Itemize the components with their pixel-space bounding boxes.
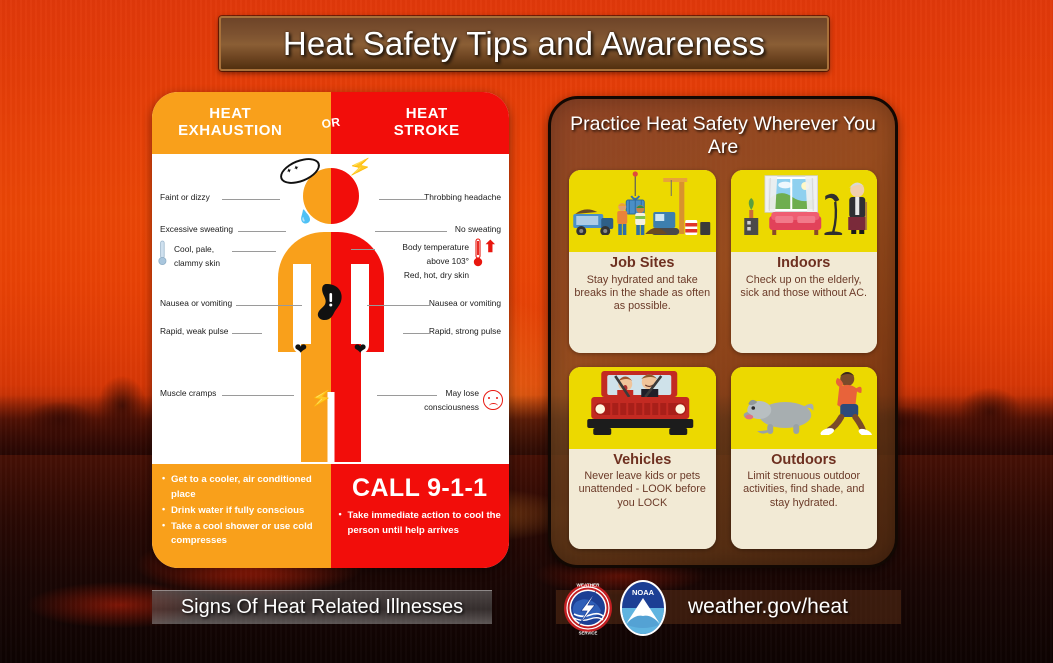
heat-stroke-header: HEAT STROKE <box>331 92 510 154</box>
symptom-nausea-right: Nausea or vomiting <box>429 298 501 310</box>
card-text-area: Job Sites Stay hydrated and take breaks … <box>569 252 716 352</box>
symptoms-diagram: ⚡ 💧 ❤ ❤ ⚡ <box>152 154 509 464</box>
svg-text:NOAA: NOAA <box>632 588 655 597</box>
symptom-may-lose-consciousness-1: May lose <box>445 388 479 400</box>
symptom-may-lose-consciousness-2: consciousness <box>424 402 479 414</box>
symptom-cool-pale-clammy-skin-2: clammy skin <box>174 258 220 270</box>
leader-line <box>222 199 280 200</box>
cold-thermometer-icon <box>158 240 167 266</box>
leader-line <box>379 199 427 200</box>
card-body: Stay hydrated and take breaks in the sha… <box>574 274 711 314</box>
card-text-area: Outdoors Limit strenuous outdoor activit… <box>731 449 878 549</box>
heat-stroke-title-line1: HEAT <box>406 106 448 123</box>
stomach-nausea-icon <box>310 282 348 324</box>
leader-line <box>236 305 302 306</box>
safety-card-outdoors[interactable]: Outdoors Limit strenuous outdoor activit… <box>731 367 878 549</box>
leader-line <box>238 231 286 232</box>
weak-pulse-heart-icon: ❤ <box>295 340 308 358</box>
symptom-no-sweating: No sweating <box>455 224 501 236</box>
leader-line <box>367 305 429 306</box>
symptom-excessive-sweating: Excessive sweating <box>160 224 233 236</box>
list-item: Take immediate action to cool the person… <box>339 509 502 539</box>
human-body-figure: ⚡ 💧 ❤ ❤ ⚡ <box>271 154 391 464</box>
heat-exhaustion-title-line2: EXHAUSTION <box>178 123 282 140</box>
symptom-rapid-strong-pulse: Rapid, strong pulse <box>429 326 501 338</box>
symptom-red-hot-dry-skin: Red, hot, dry skin <box>404 270 469 282</box>
card-text-area: Indoors Check up on the elderly, sick an… <box>731 252 878 352</box>
runner-and-dog-illustration <box>731 367 878 449</box>
or-divider-label: OR <box>320 115 341 131</box>
practice-panel-title: Practice Heat Safety Wherever You Are <box>569 113 877 158</box>
leader-line <box>403 333 429 334</box>
signs-of-heat-related-illnesses-banner: Signs Of Heat Related Illnesses <box>152 590 492 624</box>
leader-line <box>351 249 375 250</box>
list-item: Drink water if fully conscious <box>162 504 323 519</box>
symptom-muscle-cramps: Muscle cramps <box>160 388 216 400</box>
leader-line <box>232 333 262 334</box>
symptom-throbbing-headache: Throbbing headache <box>424 192 501 204</box>
symptom-nausea-left: Nausea or vomiting <box>160 298 232 310</box>
heat-exhaustion-header: HEAT EXHAUSTION <box>152 92 331 154</box>
hot-thermometer-icon <box>473 238 483 268</box>
signs-header: HEAT EXHAUSTION HEAT STROKE OR <box>152 92 509 154</box>
safety-card-job-sites[interactable]: Job Sites Stay hydrated and take breaks … <box>569 170 716 352</box>
page-title-banner: Heat Safety Tips and Awareness <box>219 16 829 71</box>
heat-exhaustion-actions: Get to a cooler, air conditioned place D… <box>152 464 331 568</box>
symptom-body-temp-1: Body temperature <box>402 242 469 254</box>
card-body: Check up on the elderly, sick and those … <box>736 274 873 301</box>
safety-card-vehicles[interactable]: Vehicles Never leave kids or pets unatte… <box>569 367 716 549</box>
svg-text:WEATHER: WEATHER <box>577 583 601 588</box>
construction-site-illustration <box>569 170 716 252</box>
list-item: Get to a cooler, air conditioned place <box>162 473 323 503</box>
living-room-elderly-illustration <box>731 170 878 252</box>
call-911-text: CALL 9-1-1 <box>339 474 502 503</box>
unconscious-sad-face-icon <box>483 390 503 410</box>
safety-cards-grid: Job Sites Stay hydrated and take breaks … <box>569 170 877 549</box>
card-title: Job Sites <box>610 255 674 272</box>
card-text-area: Vehicles Never leave kids or pets unatte… <box>569 449 716 549</box>
heat-illness-signs-infographic: HEAT EXHAUSTION HEAT STROKE OR ⚡ 💧 <box>152 92 509 568</box>
muscle-cramp-icon: ⚡ <box>309 389 329 409</box>
signs-label-text: Signs Of Heat Related Illnesses <box>181 596 463 619</box>
temperature-rising-arrow-icon: ⬆ <box>484 240 497 256</box>
leader-line <box>232 251 276 252</box>
noaa-logo: NOAA <box>618 578 668 638</box>
page-title: Heat Safety Tips and Awareness <box>283 25 765 63</box>
red-car-children-illustration <box>569 367 716 449</box>
leader-line <box>222 395 294 396</box>
list-item: Take a cool shower or use cold compresse… <box>162 520 323 550</box>
heat-stroke-actions: CALL 9-1-1 Take immediate action to cool… <box>331 464 510 568</box>
heat-exhaustion-title-line1: HEAT <box>209 106 251 123</box>
safety-card-indoors[interactable]: Indoors Check up on the elderly, sick an… <box>731 170 878 352</box>
headache-lightning-icon: ⚡ <box>346 156 371 179</box>
card-body: Limit strenuous outdoor activities, find… <box>736 470 873 510</box>
heat-stroke-title-line2: STROKE <box>394 123 460 140</box>
symptom-rapid-weak-pulse: Rapid, weak pulse <box>160 326 228 338</box>
card-title: Outdoors <box>771 452 836 469</box>
card-body: Never leave kids or pets unattended - LO… <box>574 470 711 510</box>
leader-line <box>375 231 447 232</box>
strong-pulse-heart-icon: ❤ <box>354 340 367 358</box>
weather-gov-url: weather.gov/heat <box>688 595 848 619</box>
sweat-drops-icon: 💧 <box>295 208 314 224</box>
svg-text:SERVICE: SERVICE <box>579 631 598 636</box>
symptom-cool-pale-clammy-skin-1: Cool, pale, <box>174 244 214 256</box>
symptom-body-temp-2: above 103° <box>427 256 469 268</box>
card-title: Indoors <box>777 255 830 272</box>
symptom-faint-or-dizzy: Faint or dizzy <box>160 192 210 204</box>
leader-line <box>377 395 437 396</box>
practice-heat-safety-panel: Practice Heat Safety Wherever You Are <box>548 96 898 568</box>
figure-leg-gap <box>327 392 334 464</box>
signs-actions: Get to a cooler, air conditioned place D… <box>152 464 509 568</box>
card-title: Vehicles <box>613 452 671 469</box>
nws-logo: WEATHER SERVICE <box>562 578 614 638</box>
